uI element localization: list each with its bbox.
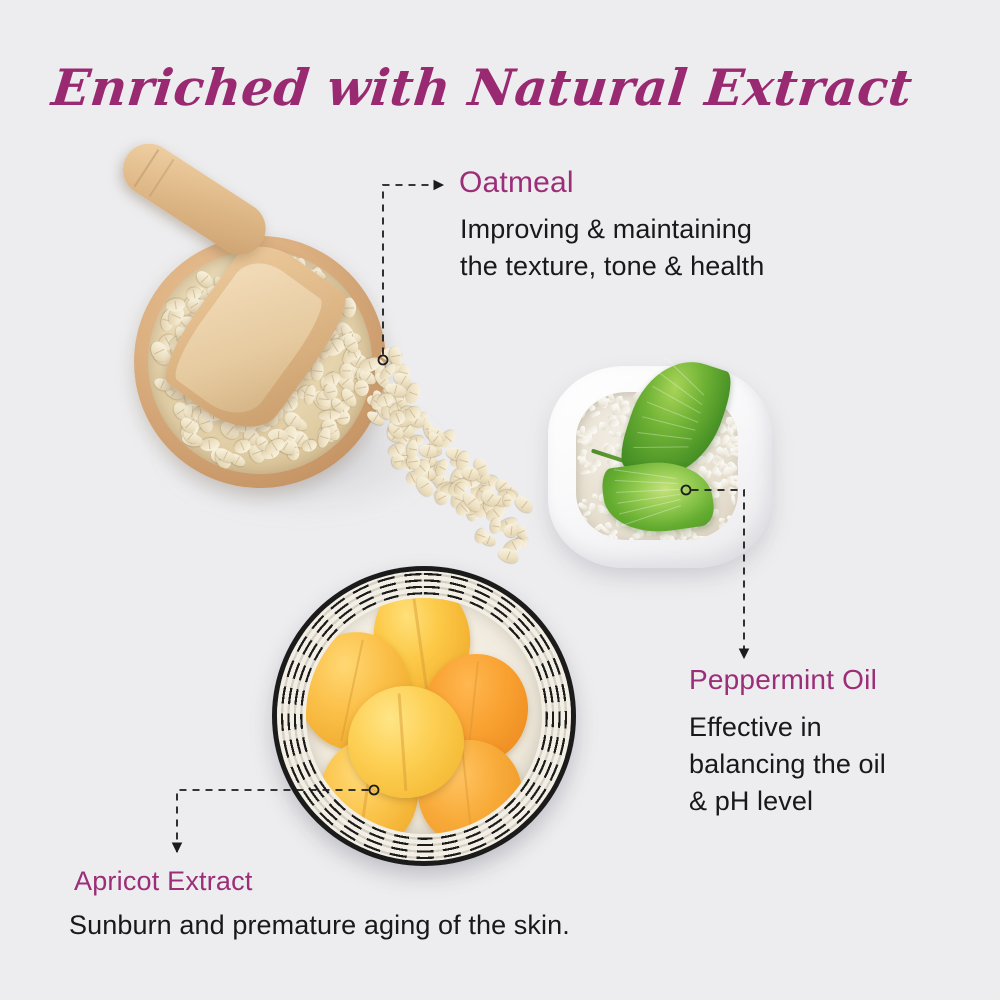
salt-crystal — [729, 532, 738, 540]
salt-crystal — [730, 495, 736, 506]
oat-flake — [490, 517, 502, 534]
callout-apricot: Apricot Extract Sunburn and premature ag… — [74, 865, 570, 943]
oat-flake — [503, 523, 518, 537]
apricot-photo — [266, 560, 586, 872]
oatmeal-photo — [96, 188, 516, 558]
callout-oatmeal-body-line: the texture, tone & health — [460, 248, 764, 285]
patterned-ceramic-bowl — [272, 566, 576, 866]
callout-peppermint-body-line: & pH level — [689, 783, 886, 820]
callout-oatmeal-heading: Oatmeal — [459, 165, 764, 201]
salt-crystal — [577, 399, 588, 409]
oat-flake — [341, 364, 353, 379]
salt-crystal — [576, 437, 588, 442]
white-square-bowl — [548, 366, 772, 568]
leaf-vein — [637, 432, 691, 440]
callout-apricot-body-line: Sunburn and premature aging of the skin. — [69, 907, 570, 943]
leaf-vein — [652, 386, 700, 413]
callout-peppermint-body-line: balancing the oil — [689, 746, 886, 783]
leaf-vein — [616, 489, 679, 493]
salt-crystal — [726, 486, 737, 497]
salt-crystal — [577, 502, 588, 512]
salt-crystal — [577, 409, 586, 419]
salt-crystal — [701, 536, 710, 540]
salt-crystal — [728, 428, 733, 436]
page-title: Enriched with Natural Extract — [48, 52, 816, 124]
leaf-vein — [621, 505, 681, 526]
callout-apricot-heading: Apricot Extract — [74, 865, 570, 898]
salt-crystal — [726, 515, 738, 522]
callout-peppermint-body-line: Effective in — [689, 709, 886, 746]
callout-peppermint: Peppermint Oil Effective in balancing th… — [689, 663, 886, 820]
callout-apricot-body: Sunburn and premature aging of the skin. — [69, 907, 570, 943]
salt-crystal — [732, 441, 738, 445]
salt-crystal — [705, 470, 713, 480]
salt-crystal — [717, 457, 725, 464]
callout-peppermint-heading: Peppermint Oil — [689, 663, 886, 697]
bowl-interior — [306, 598, 542, 834]
salt-photo — [540, 358, 780, 578]
callout-oatmeal-body: Improving & maintaining the texture, ton… — [460, 211, 764, 285]
leaf-vein — [614, 469, 676, 479]
infographic-canvas: Enriched with Natural Extract — [0, 0, 1000, 1000]
callout-oatmeal: Oatmeal Improving & maintaining the text… — [459, 165, 764, 285]
salt-crystal — [591, 533, 601, 540]
wooden-scoop-handle — [113, 134, 276, 265]
leaf-vein — [633, 447, 688, 449]
leaf-vein — [615, 480, 678, 484]
salt-crystal — [731, 412, 738, 421]
callout-peppermint-body: Effective in balancing the oil & pH leve… — [689, 709, 886, 820]
callout-oatmeal-body-line: Improving & maintaining — [460, 211, 764, 248]
spilled-oats-group — [346, 338, 526, 548]
salt-crystal — [599, 422, 607, 430]
